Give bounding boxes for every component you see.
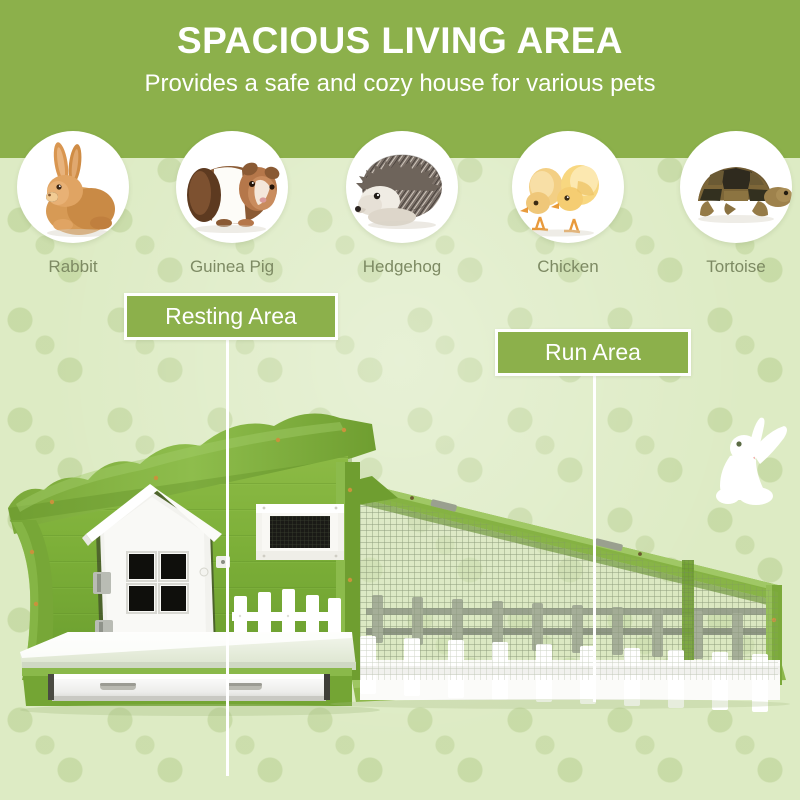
rabbit-icon — [17, 131, 129, 243]
tortoise-icon — [680, 131, 792, 243]
pet-item-chicken: Chicken — [512, 131, 624, 277]
run-enclosure-section — [350, 480, 786, 712]
pet-item-rabbit: Rabbit — [17, 131, 129, 277]
pet-avatar-circle — [176, 131, 288, 243]
run-area-leader-line — [593, 372, 596, 702]
pet-label: Chicken — [512, 257, 624, 277]
callout-label: Resting Area — [165, 303, 297, 330]
callout-resting-area[interactable]: Resting Area — [124, 293, 338, 340]
pet-item-guinea-pig: Guinea Pig — [176, 131, 288, 277]
marketing-banner: SPACIOUS LIVING AREA Provides a safe and… — [0, 0, 800, 800]
product-illustration — [0, 380, 800, 760]
pet-avatar-circle — [17, 131, 129, 243]
pet-item-hedgehog: Hedgehog — [346, 131, 458, 277]
pet-label: Hedgehog — [346, 257, 458, 277]
hutch-with-run-svg — [0, 380, 800, 760]
callout-run-area[interactable]: Run Area — [495, 329, 691, 376]
callout-label: Run Area — [545, 339, 641, 366]
guinea-pig-icon — [176, 131, 288, 243]
pet-avatar-circle — [512, 131, 624, 243]
pull-out-tray — [48, 674, 330, 701]
pet-avatar-circle — [346, 131, 458, 243]
hedgehog-icon — [346, 131, 458, 243]
pet-label: Tortoise — [680, 257, 792, 277]
door-hinge-top — [93, 572, 111, 594]
pet-label: Guinea Pig — [176, 257, 288, 277]
chicken-icon — [512, 131, 624, 243]
pet-avatar-circle — [680, 131, 792, 243]
pet-item-tortoise: Tortoise — [680, 131, 792, 277]
pet-icon-row: Rabbit — [0, 0, 800, 280]
resting-area-leader-line — [226, 336, 229, 776]
rabbit-silhouette-icon — [700, 412, 792, 508]
pet-label: Rabbit — [17, 257, 129, 277]
mesh-window — [256, 504, 344, 560]
